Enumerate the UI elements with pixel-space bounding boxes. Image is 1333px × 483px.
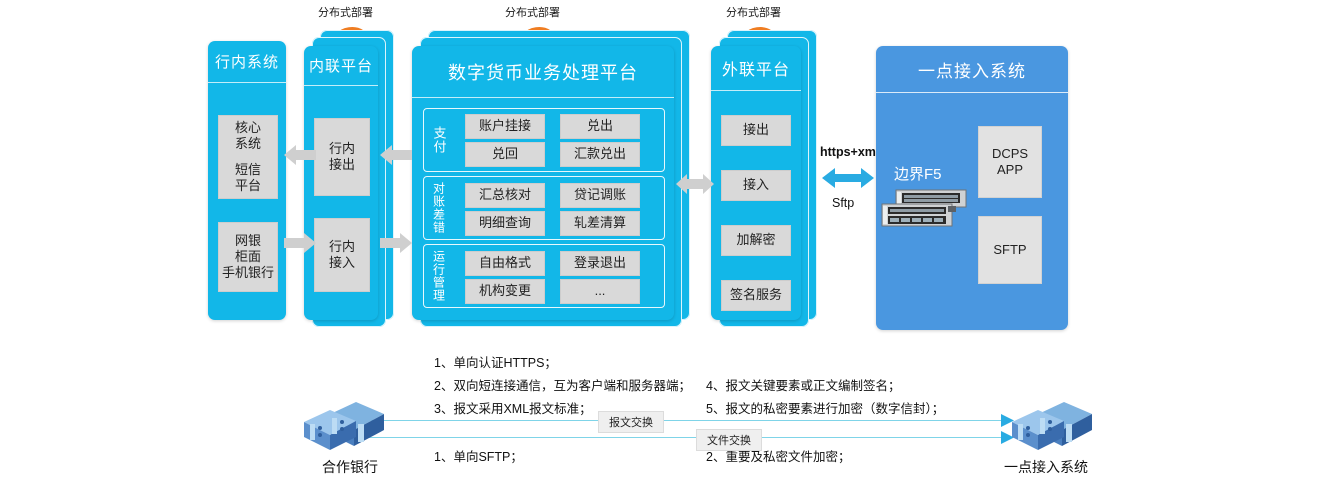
item-account-link[interactable]: 账户挂接 (465, 114, 545, 139)
item-label: 汇总核对 (479, 187, 531, 203)
panel-title-bank-system: 行内系统 (208, 41, 286, 83)
label-sftp: Sftp (832, 196, 854, 210)
arrow-bidirectional-external-access (822, 167, 874, 189)
box-signature-service[interactable]: 签名服务 (721, 280, 791, 311)
device-label-access-system: 一点接入系统 (1004, 457, 1088, 477)
group-label-operations: 运行管理 (427, 245, 451, 307)
item-label: ... (595, 283, 606, 299)
arrow-right-bank-to-intranet (284, 233, 316, 253)
item-label: 贷记调账 (574, 187, 626, 203)
note-right-4: 4、报文关键要素或正文编制签名； (706, 375, 900, 394)
panel-title-dcep-platform: 数字货币业务处理平台 (412, 46, 674, 98)
note-left-2: 2、双向短连接通信，互为客户端和服务器端； (434, 375, 691, 394)
arrow-left-bank-from-intranet (284, 145, 316, 165)
item-org-change[interactable]: 机构变更 (465, 279, 545, 304)
box-line: 网银 (235, 233, 261, 249)
box-line: DCPS (992, 146, 1028, 162)
box-ebank-counter-mobile[interactable]: 网银 柜面 手机银行 (218, 222, 278, 292)
box-intranet-outbound[interactable]: 行内 接出 (314, 118, 370, 196)
line-message-exchange (358, 420, 1006, 421)
server-icon-access-system (1008, 400, 1094, 452)
item-more[interactable]: ... (560, 279, 640, 304)
item-label: 明细查询 (479, 215, 531, 231)
item-label: 账户挂接 (479, 118, 531, 134)
item-label: 轧差清算 (574, 215, 626, 231)
arrow-bidirectional-dcep-external (676, 174, 714, 194)
panel-title-access-system: 一点接入系统 (876, 46, 1068, 93)
item-login-logout[interactable]: 登录退出 (560, 251, 640, 276)
box-line: 柜面 (235, 249, 261, 265)
box-line: 平台 (235, 178, 261, 194)
item-label: 汇款兑出 (574, 146, 626, 162)
item-remittance-out[interactable]: 汇款兑出 (560, 142, 640, 167)
f5-switch-icon (878, 188, 970, 232)
box-line: 签名服务 (730, 287, 782, 303)
box-core-system[interactable]: 核心 系统 短信 平台 (218, 115, 278, 199)
group-label-reconciliation: 对账差错 (427, 177, 451, 239)
label-https-xml: https+xml (820, 145, 879, 159)
box-line: APP (997, 162, 1023, 178)
box-line: 系统 (235, 136, 261, 152)
line-file-exchange (358, 437, 1006, 438)
box-line: SFTP (993, 242, 1026, 258)
panel-title-external-platform: 外联平台 (711, 46, 801, 91)
note-left-3: 3、报文采用XML报文标准； (434, 398, 592, 417)
item-free-format[interactable]: 自由格式 (465, 251, 545, 276)
note-right-5: 5、报文的私密要素进行加密（数字信封）； (706, 398, 944, 417)
box-line: 加解密 (736, 232, 775, 248)
box-line: 行内 (329, 141, 355, 157)
box-line: 接出 (329, 157, 355, 173)
chip-file-exchange: 文件交换 (696, 429, 762, 451)
item-summary-check[interactable]: 汇总核对 (465, 183, 545, 208)
box-line: 手机银行 (222, 265, 274, 281)
item-label: 自由格式 (479, 255, 531, 271)
box-line: 短信 (235, 162, 261, 178)
arrow-right-intranet-to-dcep (380, 233, 412, 253)
box-external-inbound[interactable]: 接入 (721, 170, 791, 201)
box-line: 接出 (743, 122, 769, 138)
label-boundary-f5: 边界F5 (894, 163, 942, 184)
item-detail-query[interactable]: 明细查询 (465, 211, 545, 236)
group-label-payment: 支付 (427, 109, 451, 171)
item-credit-adjust[interactable]: 贷记调账 (560, 183, 640, 208)
box-line: 行内 (329, 239, 355, 255)
note-bottom-left: 1、单向SFTP； (434, 446, 523, 465)
item-label: 兑出 (587, 118, 613, 134)
box-external-outbound[interactable]: 接出 (721, 115, 791, 146)
item-label: 登录退出 (574, 255, 626, 271)
box-dcps-app[interactable]: DCPS APP (978, 126, 1042, 198)
item-exchange-out[interactable]: 兑出 (560, 114, 640, 139)
item-exchange-back[interactable]: 兑回 (465, 142, 545, 167)
box-intranet-inbound[interactable]: 行内 接入 (314, 218, 370, 292)
box-line: 接入 (743, 177, 769, 193)
box-encrypt-decrypt[interactable]: 加解密 (721, 225, 791, 256)
box-line: 核心 (235, 120, 261, 136)
arrow-left-intranet-from-dcep (380, 145, 412, 165)
note-left-1: 1、单向认证HTTPS； (434, 352, 557, 371)
item-label: 兑回 (492, 146, 518, 162)
item-netting-settlement[interactable]: 轧差清算 (560, 211, 640, 236)
box-sftp[interactable]: SFTP (978, 216, 1042, 284)
device-label-partner-bank: 合作银行 (322, 457, 378, 477)
item-label: 机构变更 (479, 283, 531, 299)
box-line: 接入 (329, 255, 355, 271)
server-icon-partner-bank (300, 400, 386, 452)
chip-message-exchange: 报文交换 (598, 411, 664, 433)
panel-title-intranet-platform: 内联平台 (304, 46, 378, 86)
